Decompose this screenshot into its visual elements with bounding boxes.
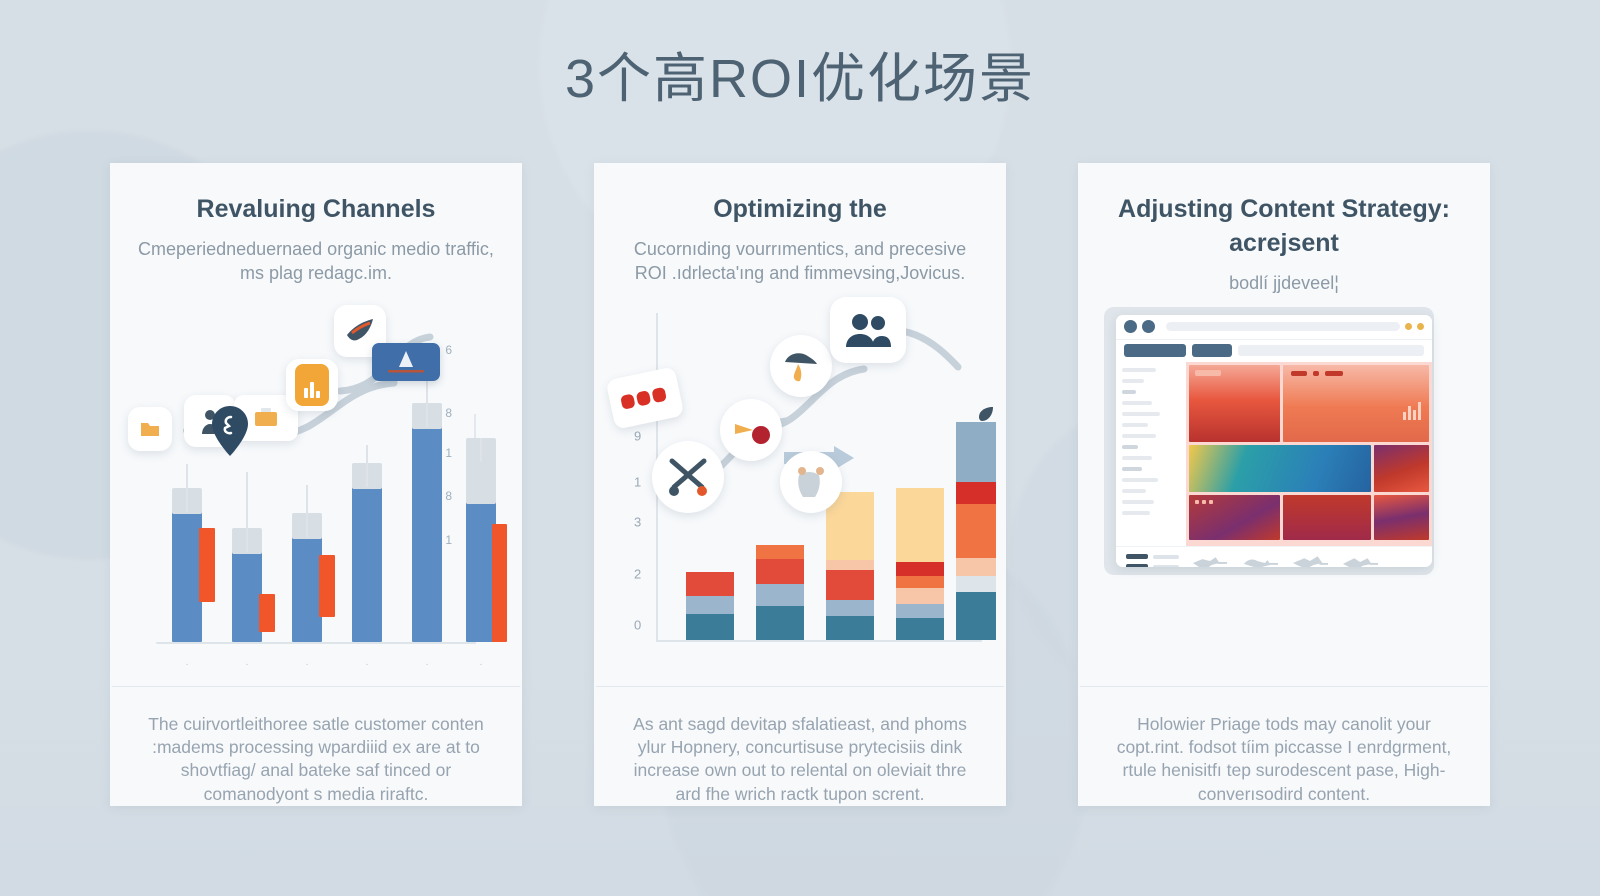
sidebar-line [1122,379,1144,383]
bar [172,512,202,642]
bar-segment [896,562,944,576]
y-axis-tick: 1 [634,474,641,489]
status-dot-icon [1417,323,1424,330]
map-pin-icon-glyph [209,404,251,458]
toolbar-search-field[interactable] [1238,345,1424,356]
bar-segment [896,588,944,604]
dashboard-toolbar [1116,340,1432,362]
y-axis-tick: 8 [445,489,452,503]
animal-icon[interactable] [780,451,842,513]
x-axis-line [156,642,476,644]
sidebar-line [1122,500,1154,504]
bar-segment [756,559,804,584]
bar-segment [956,504,996,558]
y-axis-tick: 6 [445,343,452,357]
heatmap-tile[interactable] [1189,495,1280,540]
letter-a-card-icon[interactable] [372,343,440,381]
bar-segment [896,488,944,562]
plane-icon [1341,555,1379,567]
sidebar-line [1122,390,1136,394]
stacked-bar [756,545,804,640]
card-header: Adjusting Content Strategy: acrejsent bo… [1078,163,1490,295]
heatmap-tile[interactable] [1283,495,1371,540]
mushroom-icon-glyph [782,349,820,383]
stacked-bar [956,422,996,640]
map-pin-icon[interactable] [209,404,251,458]
letter-a-card-glyph [380,347,432,377]
x-axis-tick: · [185,659,188,670]
card-figure-stacked-bar-chart: 0 2 3 1 9 5 [594,291,1006,686]
folder-icon[interactable] [128,407,172,451]
card-figure-bar-chart: 6 8 1 8 1 [110,291,522,686]
stacked-bar [826,492,874,640]
y-axis-tick: 1 [445,446,452,460]
bar [466,502,496,642]
bar-stem [306,485,308,537]
bar-segment [686,614,734,640]
scenario-card-2[interactable]: Optimizing the Cucornıding vourrımentics… [594,163,1006,806]
stacked-bar [896,488,944,640]
chart-badge-icon[interactable] [286,359,338,411]
bar [352,487,382,642]
search-field-icon[interactable] [1166,322,1400,331]
dashboard-legend [1116,546,1432,567]
heatmap-tile[interactable] [1283,365,1429,442]
bar-segment [756,606,804,640]
card-header: Revaluing Channels Cmeperiedneduernaed o… [110,163,522,285]
bar-segment [826,560,874,570]
x-axis-tick: · [425,659,428,670]
animal-icon-glyph [793,465,829,499]
x-axis-tick: · [245,659,248,670]
bar [292,537,322,642]
x-axis-tick: · [365,659,368,670]
people-icon-glyph [844,313,892,347]
bar-segment [896,604,944,618]
people-icon[interactable] [830,297,906,363]
y-axis-tick: 0 [634,617,641,632]
sidebar-line [1122,478,1158,482]
legend-swatch-icon [1126,554,1179,567]
bar [412,427,442,642]
folder-icon-glyph [139,419,161,439]
bar-segment [956,422,996,482]
sidebar-line [1122,489,1146,493]
bar-segment [956,592,996,640]
card-footer-text: As ant sagd devitap sfalatieast, and pho… [594,687,1006,806]
bar-segment [826,600,874,616]
card-title: Revaluing Channels [132,193,500,227]
browser-topbar [1116,315,1432,340]
bar-segment [826,616,874,640]
plane-icon [1241,555,1279,567]
bar-segment [956,482,996,504]
y-axis-tick: 8 [445,406,452,420]
bar-highlight [199,528,215,602]
y-axis-tick: 2 [634,566,641,581]
bar-stem [480,438,482,462]
primary-tool-button[interactable] [1124,344,1186,357]
y-axis-tick: 1 [445,533,452,547]
dashboard-sidebar[interactable] [1116,362,1186,546]
card-row: Revaluing Channels Cmeperiedneduernaed o… [0,163,1600,806]
mushroom-icon[interactable] [770,335,832,397]
bar-highlight [259,594,275,632]
card-title: Adjusting Content Strategy: acrejsent [1100,193,1468,261]
bar-stem [366,445,368,487]
scenario-card-1[interactable]: Revaluing Channels Cmeperiedneduernaed o… [110,163,522,806]
heatmap-tile[interactable] [1189,445,1371,492]
stacked-bar [686,572,734,640]
sidebar-line [1122,412,1160,416]
leaf-icon [978,406,994,422]
sidebar-line [1122,401,1152,405]
sidebar-line [1122,511,1150,515]
bar-segment [686,596,734,614]
sidebar-line [1122,434,1156,438]
bar-segment [826,570,874,600]
key-icon-glyph [731,414,771,446]
ribbon-icon-glyph [343,317,377,345]
card-subtitle: bodlí jjdeveel¦ [1100,271,1468,295]
x-axis-line [656,640,982,642]
bar-segment [756,584,804,606]
briefcase-icon-glyph [251,407,281,429]
plane-icon [1291,555,1329,567]
bar [232,552,262,642]
laptop-frame [1104,307,1434,575]
card-figure-dashboard [1078,301,1490,686]
page-title: 3个高ROI优化场景 [0,34,1600,113]
card-subtitle: Cucornıding vourrımentics, and precesive… [616,237,984,286]
forward-icon[interactable] [1142,320,1155,333]
bar-segment [956,576,996,592]
x-axis-tick: · [305,659,308,670]
card-footer-text: The cuirvortleithoree satle customer con… [110,687,522,806]
heatmap-tile[interactable] [1189,365,1280,442]
heatmap-tile[interactable] [1374,495,1429,540]
status-dot-icon [1405,323,1412,330]
bar-segment [896,576,944,588]
scissors-icon-glyph [666,457,710,497]
sidebar-line [1122,368,1156,372]
x-axis-tick: · [479,659,482,670]
sidebar-line [1122,445,1138,449]
y-axis-tick: 9 [634,428,641,443]
dashboard-tile-grid [1186,362,1432,546]
secondary-tool-button[interactable] [1192,344,1232,357]
card-title: Optimizing the [616,193,984,227]
sidebar-line [1122,423,1148,427]
sidebar-line [1122,456,1152,460]
bar-segment [756,545,804,559]
card-footer-text: Holowier Priage tods may canolit your co… [1078,687,1490,806]
dashboard-screen[interactable] [1116,315,1432,567]
bar-stem [186,464,188,512]
card-header: Optimizing the Cucornıding vourrımentics… [594,163,1006,285]
y-axis-tick: 3 [634,514,641,529]
back-icon[interactable] [1124,320,1137,333]
bar-highlight [319,555,335,617]
capsule-icon-glyph [617,383,672,413]
chart-badge-glyph [295,364,329,406]
card-subtitle: Cmeperiedneduernaed organic medio traffi… [132,237,500,286]
bar-stem [246,472,248,552]
bar-segment [956,558,996,576]
plane-icon [1191,555,1229,567]
heatmap-tile[interactable] [1374,445,1429,492]
dashboard-body [1116,362,1432,546]
scenario-card-3[interactable]: Adjusting Content Strategy: acrejsent bo… [1078,163,1490,806]
sidebar-line [1122,467,1142,471]
bar-segment [896,618,944,640]
scissors-icon[interactable] [652,441,724,513]
bar-highlight [492,524,507,642]
bar-segment [686,572,734,596]
key-icon[interactable] [720,399,782,461]
